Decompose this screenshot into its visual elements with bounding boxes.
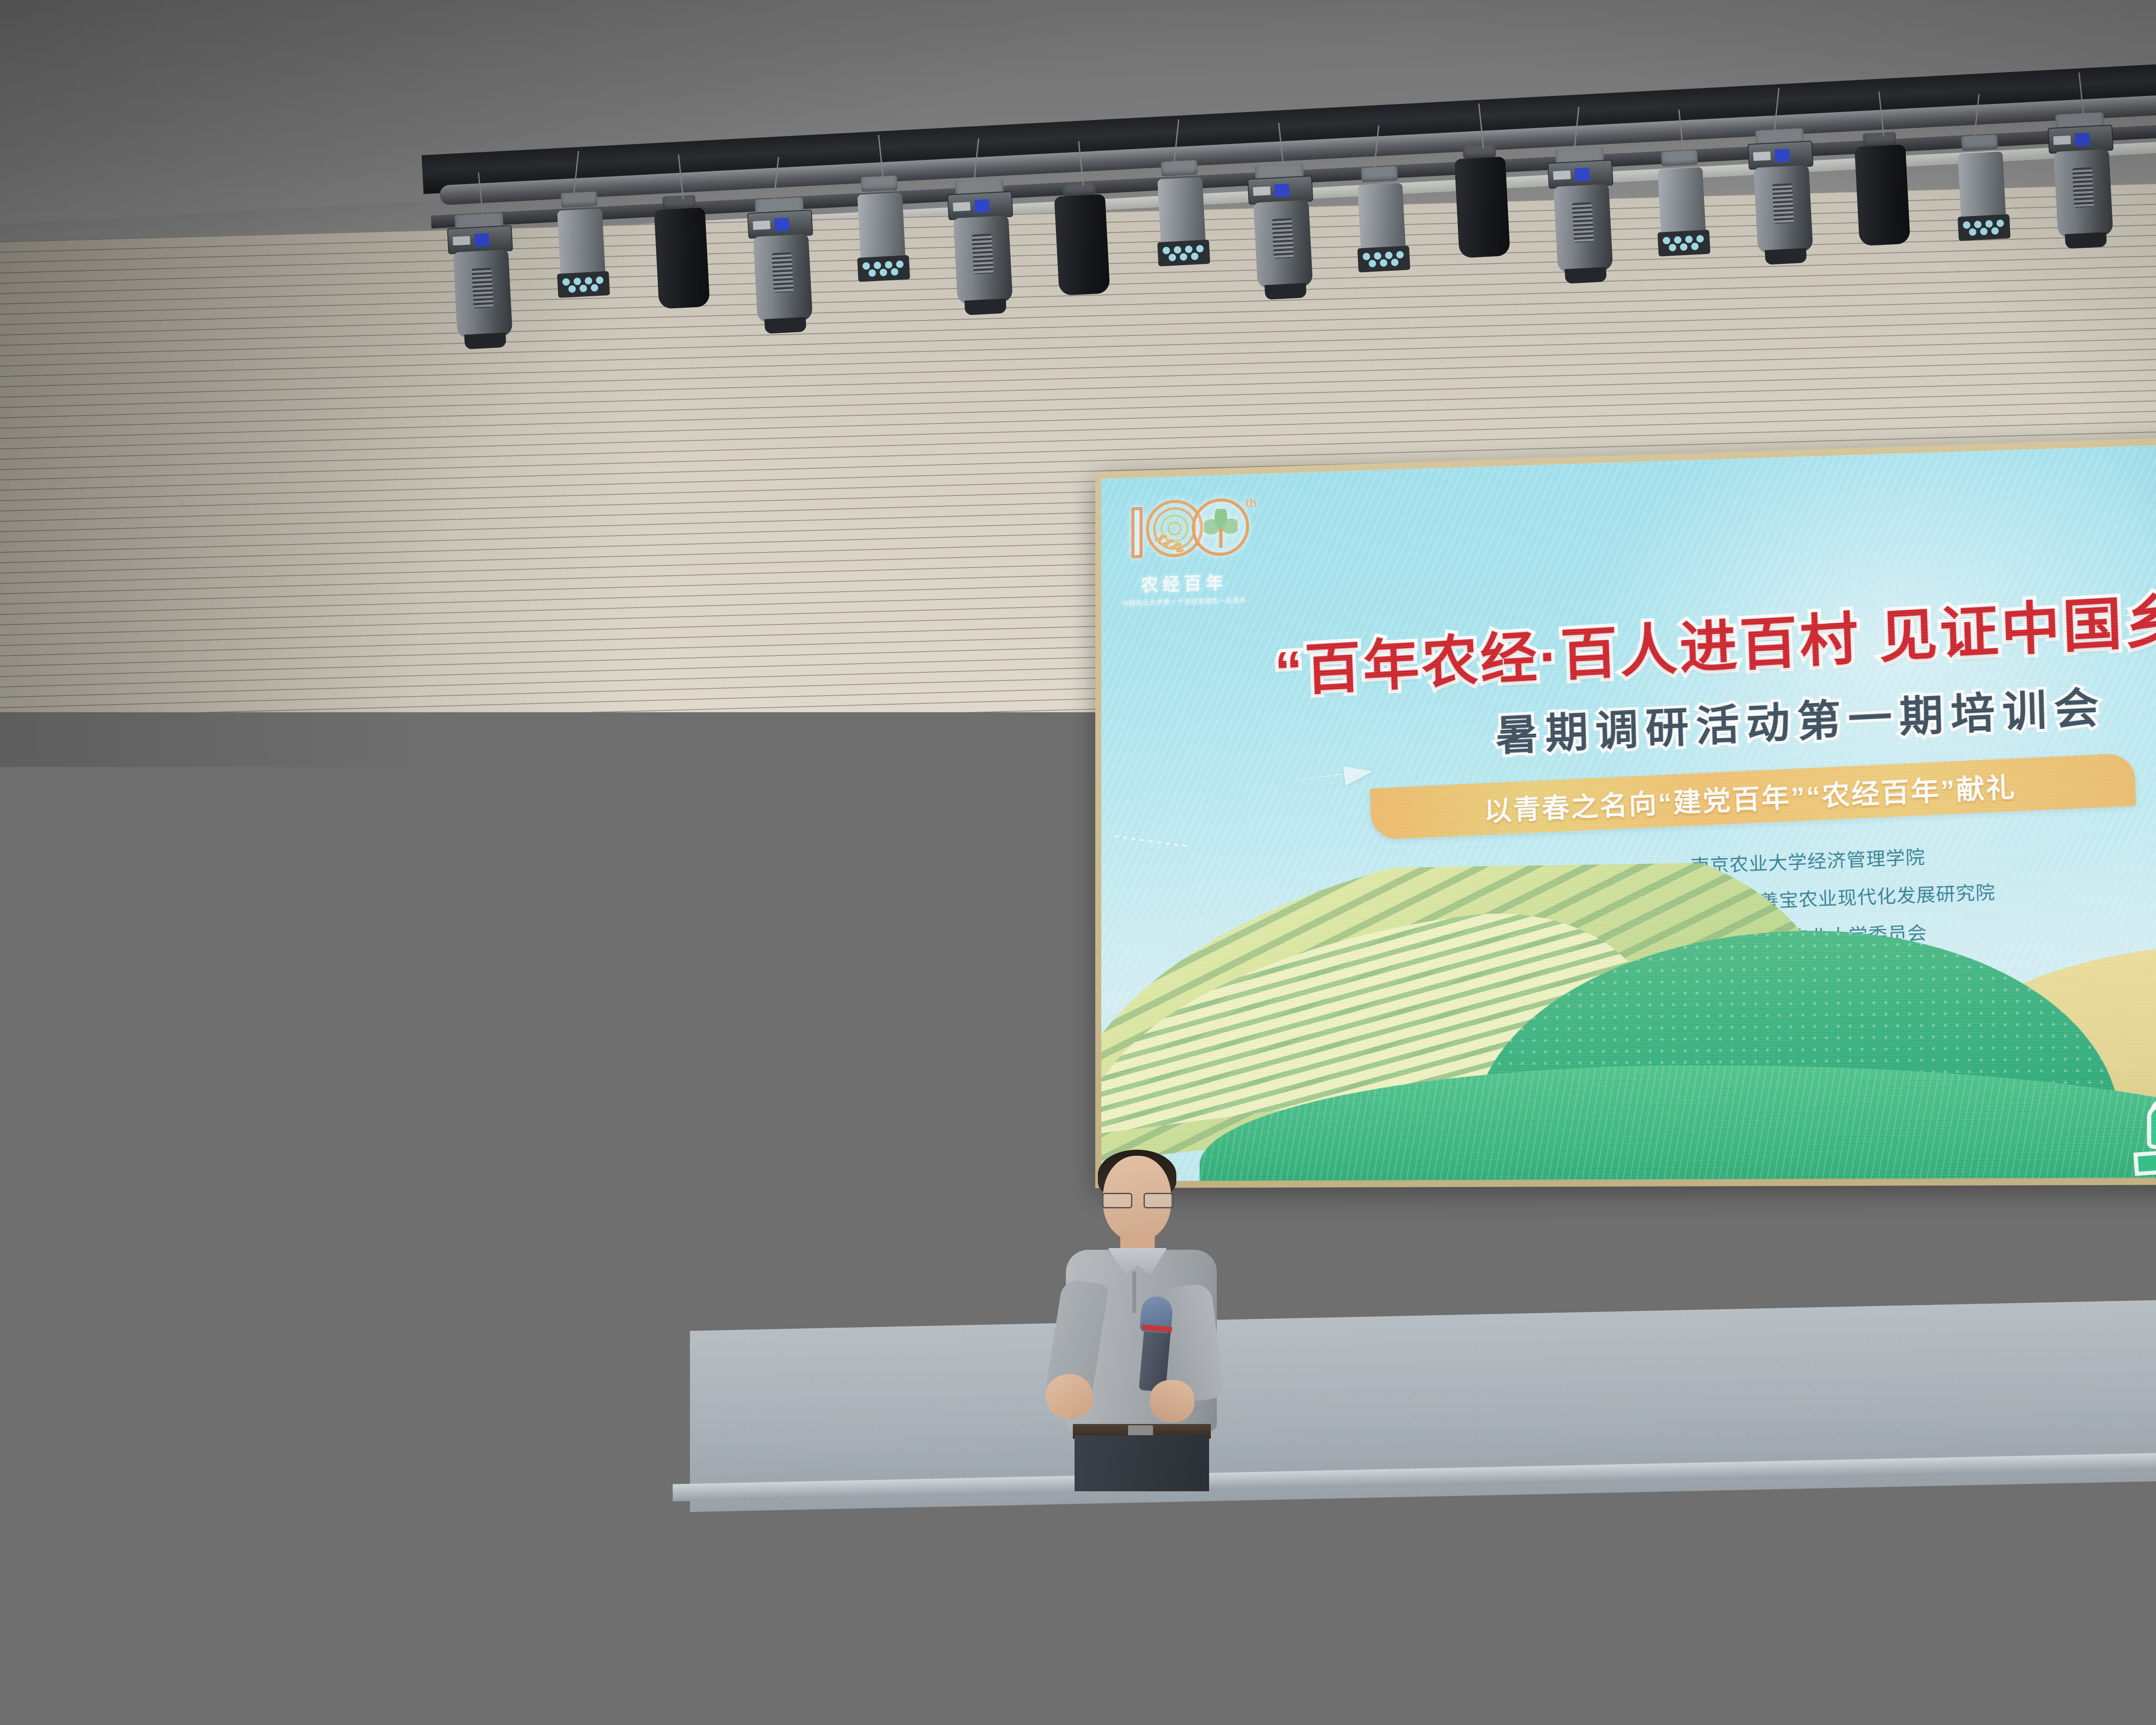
fixture-body <box>753 234 813 323</box>
slide-ribbon-text: 以青春之名向“建党百年”“农经百年”献礼 <box>1483 765 2016 829</box>
audience-head <box>208 1486 283 1570</box>
fixture-led-array <box>1958 214 2011 241</box>
fixture-body <box>1357 183 1406 250</box>
laptop[interactable] <box>987 1656 1143 1725</box>
fixture-body <box>453 250 513 339</box>
grille-door[interactable] <box>3 844 59 1376</box>
audience-head <box>1932 1486 2007 1570</box>
fixture-yoke <box>1463 144 1496 159</box>
seat-number-tag <box>1785 1551 1810 1561</box>
water-bottle[interactable] <box>2100 1656 2120 1709</box>
par-can-light <box>2145 115 2156 265</box>
fixture-body <box>1754 165 1813 254</box>
logo-subtitle: 中国农业大学第一个农经系建系一百周年 <box>1119 595 1249 608</box>
logo-digit-one <box>1131 507 1143 558</box>
water-bottle[interactable] <box>634 1690 654 1725</box>
fixture-body <box>2054 149 2113 238</box>
audience-head <box>941 1486 1016 1570</box>
audience-head <box>214 1398 279 1471</box>
fixture-yoke <box>861 176 898 192</box>
fixture-yoke <box>1361 166 1398 182</box>
phone-screen <box>882 1688 929 1725</box>
fixture-led-array <box>857 255 910 282</box>
anniversary-logo: th 农经百年 中国农业大学第一个农经系建系一百周年 <box>1119 493 1249 605</box>
audience-member <box>507 1606 688 1725</box>
pink-cap <box>595 1471 686 1544</box>
fixture-body <box>1157 177 1206 244</box>
fixture-lens <box>1565 267 1607 284</box>
audience-head <box>1417 1486 1492 1570</box>
paper-handout[interactable] <box>1625 1687 1699 1725</box>
audience-head <box>1199 1486 1274 1570</box>
gooseneck-microphone-capsule <box>516 1098 530 1115</box>
fixture-led-array <box>1157 239 1210 266</box>
water-bottle[interactable] <box>1966 1604 1986 1658</box>
audience-head <box>1467 1606 1557 1708</box>
led-screen: th 农经百年 中国农业大学第一个农经系建系一百周年 “百年农经·百人进百村 见… <box>1101 438 2156 1181</box>
fixture-yoke <box>662 195 696 210</box>
fixture-body <box>1554 184 1613 273</box>
audience-head <box>613 1398 677 1471</box>
moving-head-light <box>944 178 1021 328</box>
wall-outlet[interactable] <box>336 1263 367 1298</box>
profile-spot-light <box>1445 143 1521 293</box>
fixture-body <box>1958 151 2006 218</box>
audience-head <box>1675 1486 1750 1570</box>
figure-child-body <box>2151 1107 2156 1145</box>
fixture-yoke <box>561 191 598 208</box>
seat-number-tag <box>362 1551 387 1561</box>
water-bottle[interactable] <box>1716 1686 1736 1725</box>
audience-head <box>1230 1398 1294 1471</box>
par-can-light <box>544 191 621 341</box>
profile-spot-light <box>1044 181 1121 331</box>
fixture-lens <box>2065 232 2107 249</box>
par-can-light <box>1945 133 2021 283</box>
microphone-status-led <box>516 1113 524 1117</box>
audience-head <box>465 1486 540 1570</box>
logo-mark-icon: th <box>1119 493 1249 571</box>
laptop-screen <box>60 1573 195 1665</box>
fixture-body <box>654 207 710 309</box>
moving-head-light <box>744 196 821 346</box>
audience-head <box>723 1486 798 1570</box>
fixture-led-array <box>557 271 610 298</box>
audience-member <box>685 1486 835 1720</box>
illustration-people-group <box>2143 1033 2156 1165</box>
moving-head-light <box>1545 147 1621 297</box>
laptop-screen <box>991 1659 1139 1725</box>
par-can-light <box>844 175 921 325</box>
audience-head <box>2027 1398 2091 1471</box>
moving-head-light <box>1244 163 1321 313</box>
fixture-lens <box>1265 283 1307 300</box>
audience-head <box>831 1398 896 1471</box>
lighting-truss <box>259 73 2156 461</box>
logo-ordinal: th <box>1246 496 1257 510</box>
moving-head-light <box>1745 128 1821 278</box>
fixture-body <box>1855 144 1911 246</box>
audience-head <box>1188 1606 1278 1708</box>
audience <box>0 1328 2156 1725</box>
slide-ribbon-banner: 以青春之名向“建党百年”“农经百年”献礼 <box>1370 753 2136 840</box>
laptop[interactable] <box>56 1570 198 1669</box>
wall-outlet-secondary[interactable] <box>798 1255 825 1286</box>
fixture-yoke <box>1661 150 1698 166</box>
fixture-yoke <box>1062 182 1096 196</box>
audience-head <box>0 1606 46 1708</box>
laptop-screen <box>2004 1668 2148 1725</box>
paper-plane-icon <box>1343 762 1374 786</box>
fixture-led-array <box>1658 230 1711 257</box>
profile-spot-light <box>1845 131 1921 281</box>
water-bottle[interactable] <box>302 1673 322 1725</box>
audience-head <box>0 1398 60 1471</box>
glasses-icon <box>1102 1193 1174 1207</box>
fixture-led-array <box>1357 245 1410 272</box>
audience-torso <box>685 1555 835 1705</box>
audience-member <box>1739 1606 1920 1725</box>
fixture-body <box>1454 157 1510 258</box>
audience-head <box>433 1398 498 1471</box>
laptop[interactable] <box>2001 1665 2152 1725</box>
logo-tree-icon <box>1204 508 1238 549</box>
audience-head <box>1847 1398 1912 1471</box>
audience-head <box>552 1606 642 1708</box>
fixture-lens <box>765 317 807 334</box>
audience-head <box>1448 1398 1513 1471</box>
par-can-light <box>1344 165 1421 315</box>
fixture-yoke <box>1863 132 1896 147</box>
moving-head-light <box>2045 112 2122 262</box>
audience-member <box>1142 1606 1323 1725</box>
smartphone[interactable] <box>880 1686 931 1725</box>
fixture-body <box>953 216 1013 304</box>
logo-chinese-label: 农经百年 <box>1119 568 1249 596</box>
moving-head-light <box>444 212 521 362</box>
dotted-trail-decoration <box>1115 835 1188 847</box>
paper-plane-trail <box>1288 772 1353 781</box>
audience-member <box>1421 1606 1602 1725</box>
fixture-body <box>557 208 605 275</box>
fixture-lens <box>464 332 507 349</box>
fixture-body <box>857 193 906 260</box>
led-screen-frame: th 农经百年 中国农业大学第一个农经系建系一百周年 “百年农经·百人进百村 见… <box>1095 430 2156 1188</box>
fixture-body <box>1658 167 1706 234</box>
fixture-yoke <box>1161 160 1198 176</box>
audience-head <box>1784 1606 1875 1708</box>
audience-head <box>0 1486 64 1570</box>
audience-head <box>1628 1398 1693 1471</box>
seat-number-tag <box>931 1461 956 1471</box>
slide-landscape-illustration <box>1101 852 2156 1181</box>
logo-wheat-icon <box>1152 531 1197 563</box>
fixture-body <box>1054 194 1110 296</box>
audience-head <box>2151 1486 2156 1570</box>
audience-head <box>1011 1398 1076 1471</box>
fixture-lens <box>1765 248 1807 265</box>
profile-spot-light <box>644 194 721 344</box>
presenter-placket <box>1132 1271 1136 1313</box>
par-can-light <box>1144 159 1221 309</box>
par-can-light <box>1645 149 1721 299</box>
lecture-hall-photo: th 农经百年 中国农业大学第一个农经系建系一百周年 “百年农经·百人进百村 见… <box>0 0 2156 1725</box>
seat-number-tag <box>1785 1461 1810 1471</box>
fixture-lens <box>965 298 1007 315</box>
fixture-yoke <box>1961 134 1998 151</box>
fixture-body <box>1253 200 1313 289</box>
